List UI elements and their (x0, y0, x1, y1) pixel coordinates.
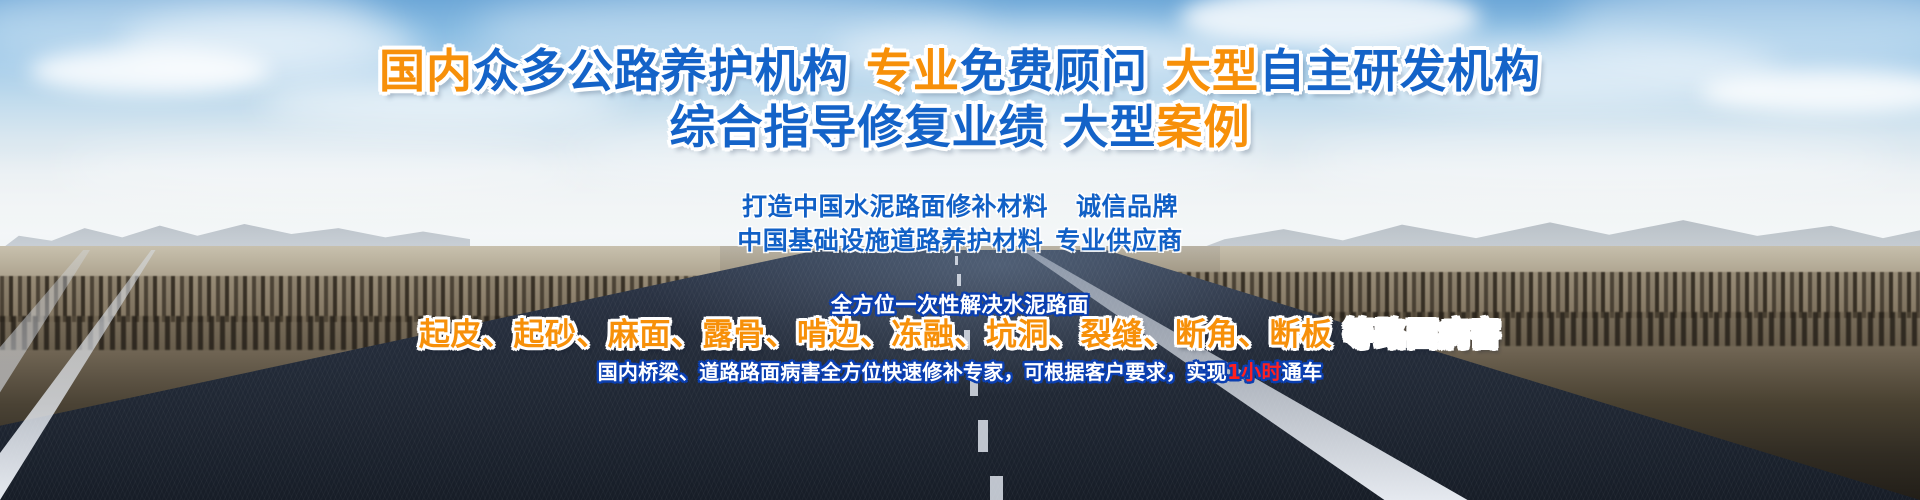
lane-dash (955, 256, 958, 265)
headline-seg: 大型 (1165, 44, 1259, 98)
headline-seg: 专业 (866, 44, 960, 98)
headline-seg: 案例 (1157, 100, 1251, 154)
final-seg: 国内桥梁、道路路面病害全方位快速修补专家，可根据客户要求，实现 (598, 360, 1227, 384)
headline-seg: 自主研发机构 (1259, 44, 1541, 98)
headline-seg: 国内 (379, 44, 473, 98)
headline-line-1: 国内众多公路养护机构 专业免费顾问 大型自主研发机构 (379, 48, 1541, 94)
disease-seg: 等路面病害 (1332, 317, 1501, 353)
headline-seg: 众多公路养护机构 (473, 44, 849, 98)
cloud-decoration (30, 48, 270, 94)
headline-line-2: 综合指导修复业绩 大型案例 (669, 104, 1250, 150)
lane-dash (990, 476, 1003, 500)
headline-gap (1148, 44, 1165, 98)
headline-seg: 大型 (1063, 100, 1157, 154)
headline-gap (1045, 100, 1062, 154)
headline-gap (849, 44, 866, 98)
lane-dash (978, 420, 988, 452)
final-seg: 通车 (1282, 360, 1323, 384)
midblock-line-1: 打造中国水泥路面修补材料诚信品牌 (742, 194, 1178, 219)
midblock-seg: 打造中国水泥路面修补材料 (742, 192, 1048, 221)
final-seg-highlight: 1小时 (1227, 360, 1282, 384)
lane-dash (957, 274, 961, 286)
promo-banner: 国内众多公路养护机构 专业免费顾问 大型自主研发机构 综合指导修复业绩 大型案例… (0, 0, 1920, 500)
bottom-caption: 全方位一次性解决水泥路面 (831, 295, 1089, 316)
disease-seg: 起皮、起砂、麻面、露骨、啃边、冻融、坑洞、裂缝、断角、断板 (419, 317, 1333, 353)
midblock-line-2: 中国基础设施道路养护材料专业供应商 (737, 228, 1183, 253)
midblock-seg: 诚信品牌 (1076, 192, 1178, 221)
midblock-seg: 专业供应商 (1055, 226, 1183, 255)
final-line: 国内桥梁、道路路面病害全方位快速修补专家，可根据客户要求，实现1小时通车 (598, 362, 1323, 382)
headline-seg: 综合指导修复业绩 (669, 100, 1045, 154)
headline-seg: 免费顾问 (960, 44, 1148, 98)
midblock-seg: 中国基础设施道路养护材料 (737, 226, 1043, 255)
disease-list: 起皮、起砂、麻面、露骨、啃边、冻融、坑洞、裂缝、断角、断板 等路面病害 (419, 320, 1501, 351)
